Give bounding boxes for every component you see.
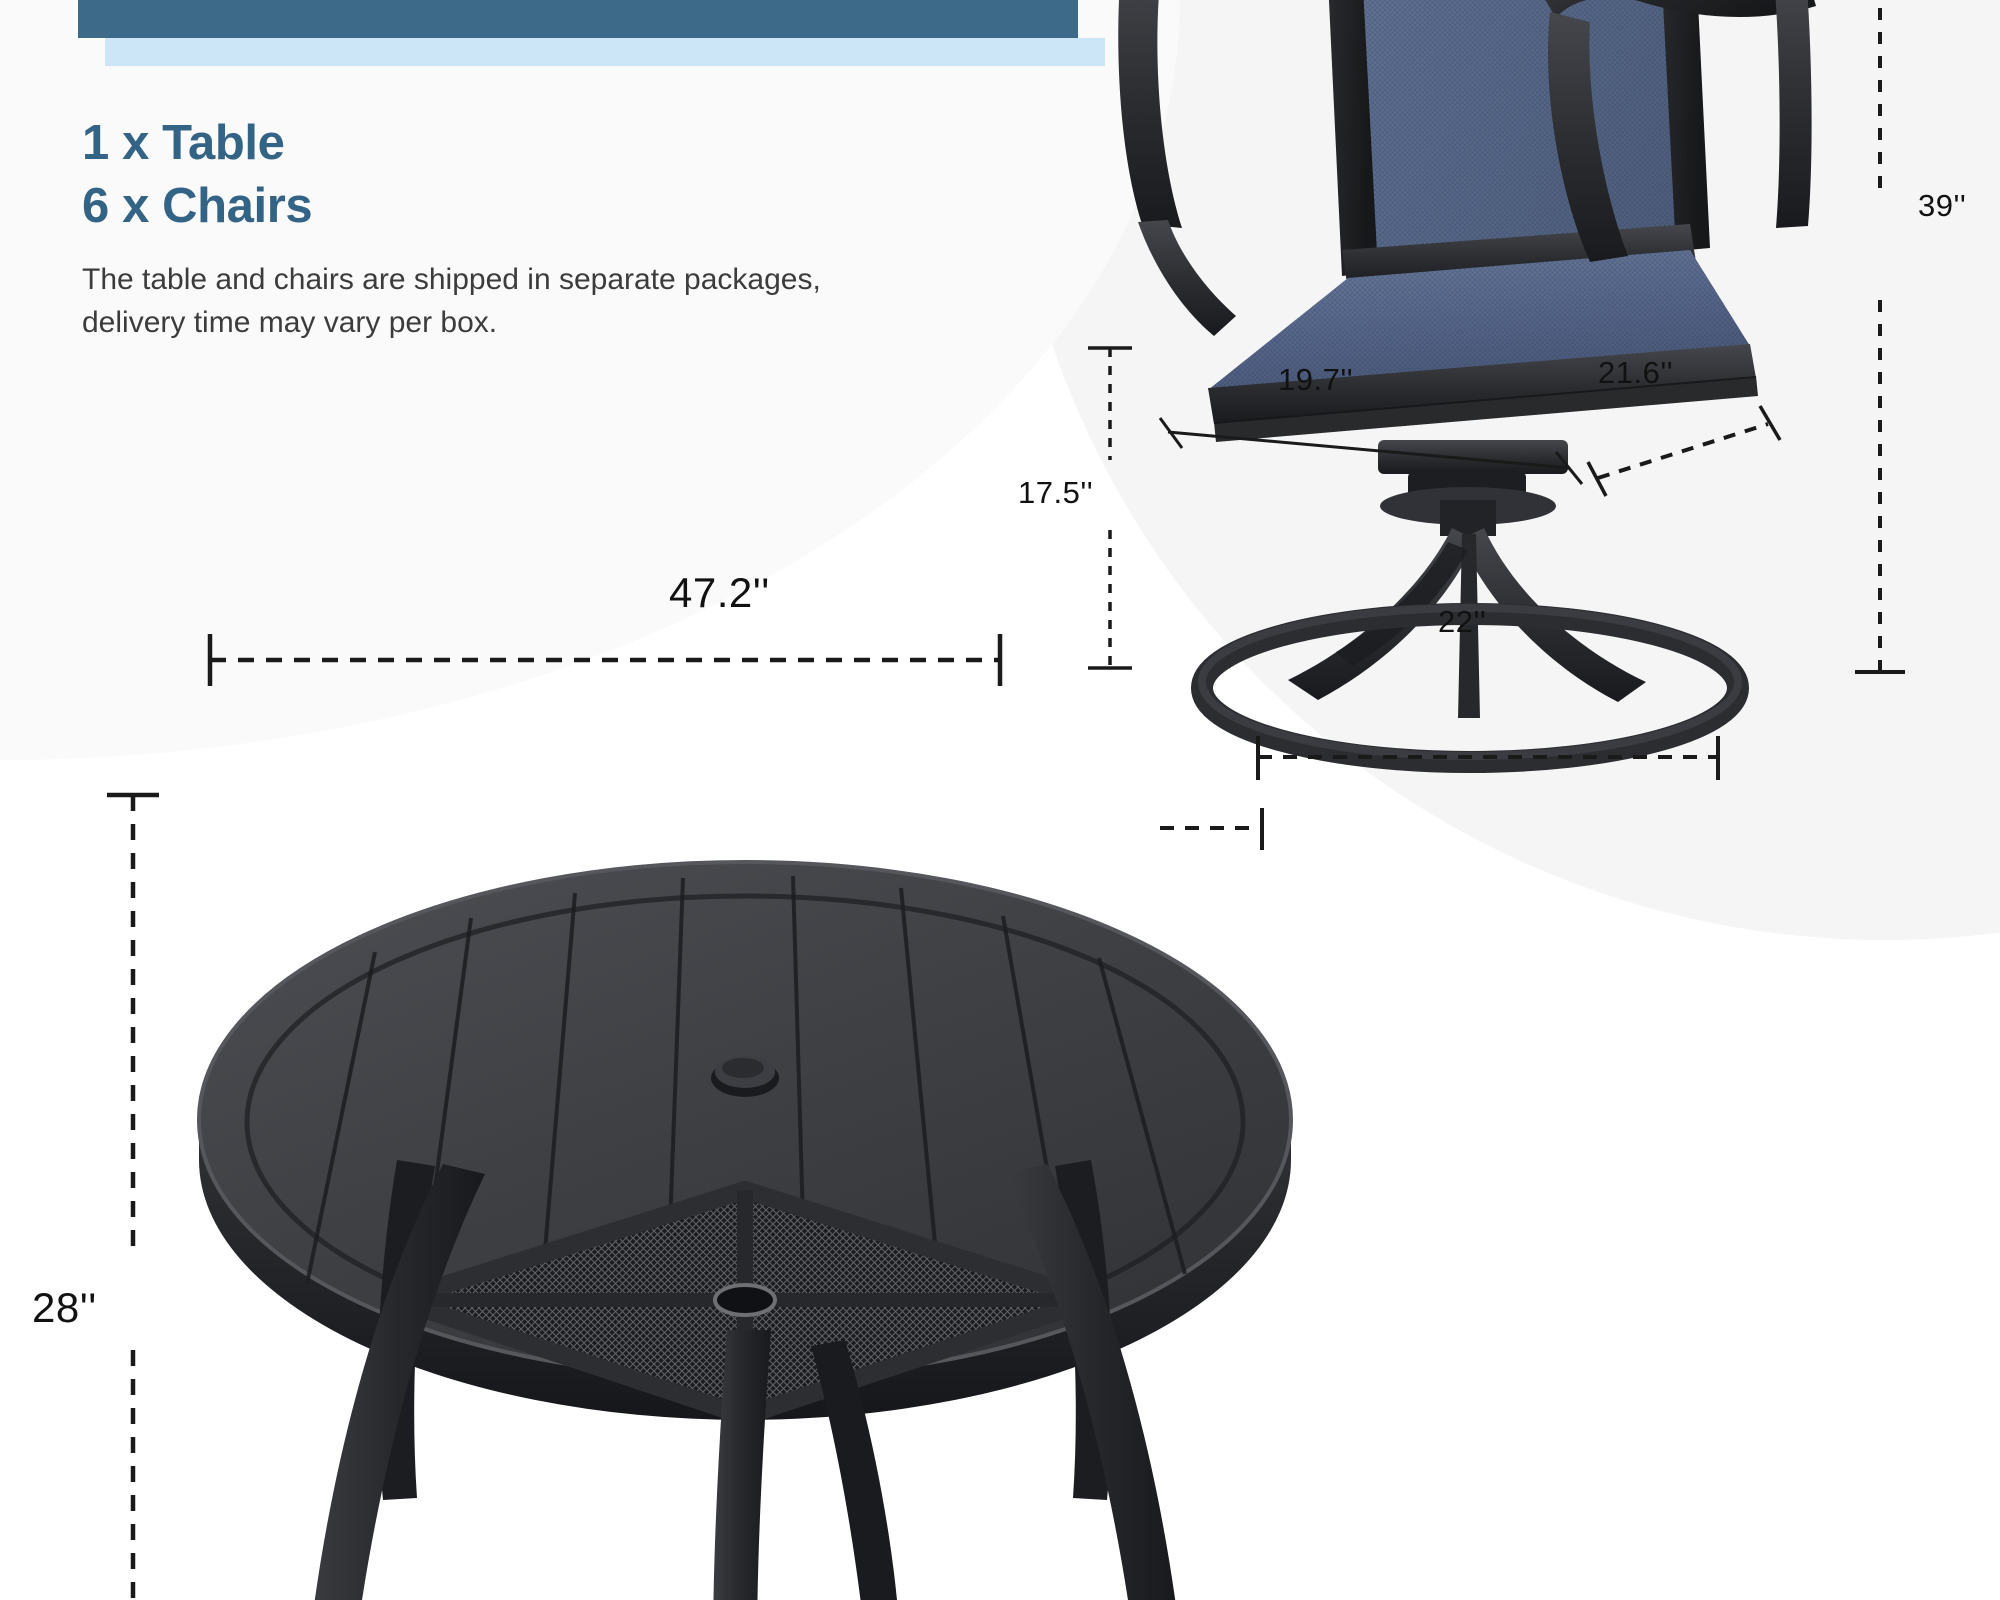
dim-label-chair-width: 19.7'' <box>1278 362 1353 398</box>
dim-label-table-height: 28'' <box>32 1284 97 1332</box>
header-underbar <box>105 38 1105 66</box>
table-illustration <box>185 860 1305 1600</box>
dim-label-chair-height: 39'' <box>1918 188 1966 224</box>
headline-table: 1 x Table <box>82 112 942 175</box>
chair-illustration <box>1090 0 1850 780</box>
dim-label-chair-depth: 21.6'' <box>1598 355 1673 391</box>
headline-chairs: 6 x Chairs <box>82 175 942 238</box>
dim-label-chair-seat-height: 17.5'' <box>1018 475 1093 511</box>
dim-label-chair-base-width: 22'' <box>1438 604 1486 640</box>
copy-block: 1 x Table 6 x Chairs The table and chair… <box>82 112 942 345</box>
header-band <box>78 0 1078 38</box>
shipping-note: The table and chairs are shipped in sepa… <box>82 259 912 344</box>
dimline-table-height <box>107 795 159 1600</box>
chair-swivel-mechanism <box>1378 440 1568 536</box>
dim-label-table-diameter: 47.2'' <box>669 569 770 617</box>
shelf-center-hole <box>715 1285 775 1315</box>
infographic-canvas: 1 x Table 6 x Chairs The table and chair… <box>0 0 2000 1600</box>
